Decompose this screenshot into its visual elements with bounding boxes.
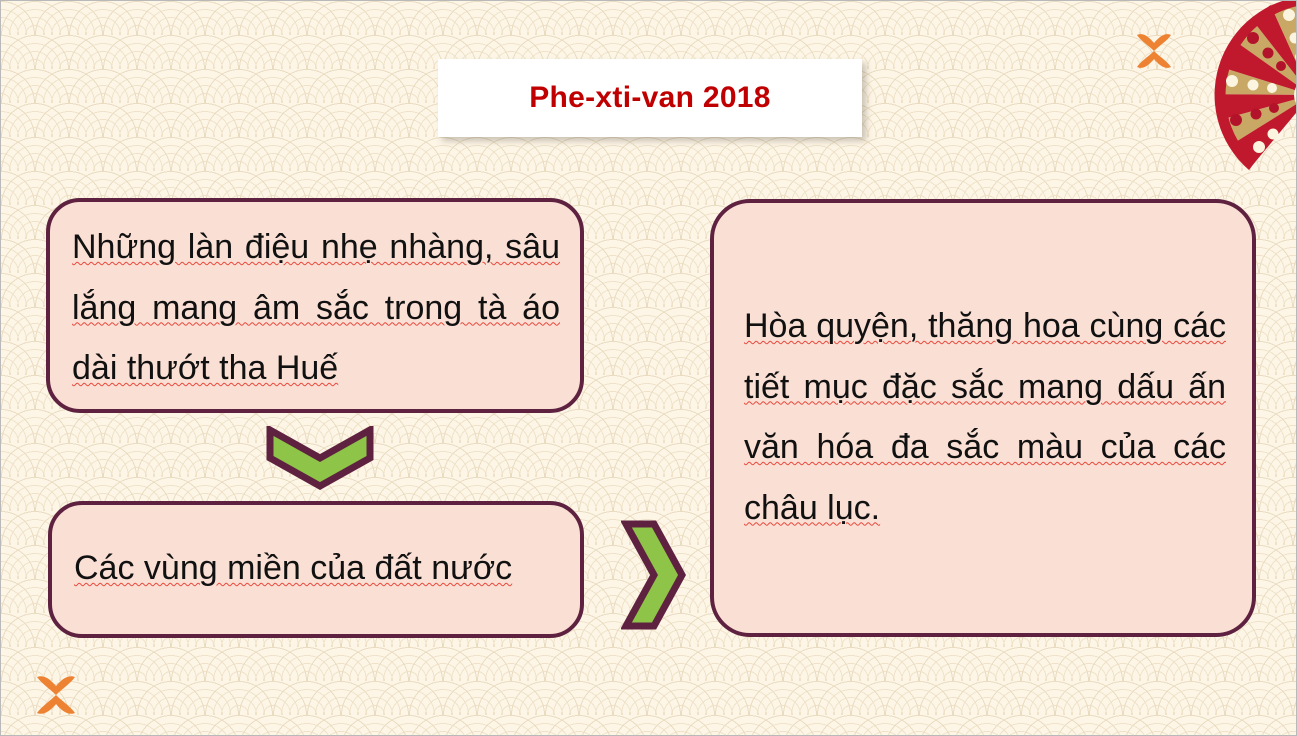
four-petal-flower-icon	[34, 673, 78, 717]
text-box-top-left-content: Những làn điệu nhẹ nhàng, sâu lắng mang …	[72, 217, 560, 399]
chevron-right-icon	[621, 519, 687, 631]
text-box-right-content: Hòa quyện, thăng hoa cùng các tiết mục đ…	[744, 296, 1226, 538]
presentation-slide: Phe-xti-van 2018 Những làn điệu nhẹ nhàn…	[0, 0, 1297, 736]
text-box-bottom-left-content: Các vùng miền của đất nước	[74, 538, 560, 599]
chevron-down-icon	[266, 426, 374, 490]
text-box-top-left[interactable]: Những làn điệu nhẹ nhàng, sâu lắng mang …	[46, 198, 584, 413]
title-card: Phe-xti-van 2018	[438, 59, 862, 137]
four-petal-flower-icon	[1134, 31, 1174, 71]
text-box-right[interactable]: Hòa quyện, thăng hoa cùng các tiết mục đ…	[710, 199, 1256, 637]
text-box-bottom-left[interactable]: Các vùng miền của đất nước	[48, 501, 584, 638]
page-title: Phe-xti-van 2018	[529, 81, 771, 115]
